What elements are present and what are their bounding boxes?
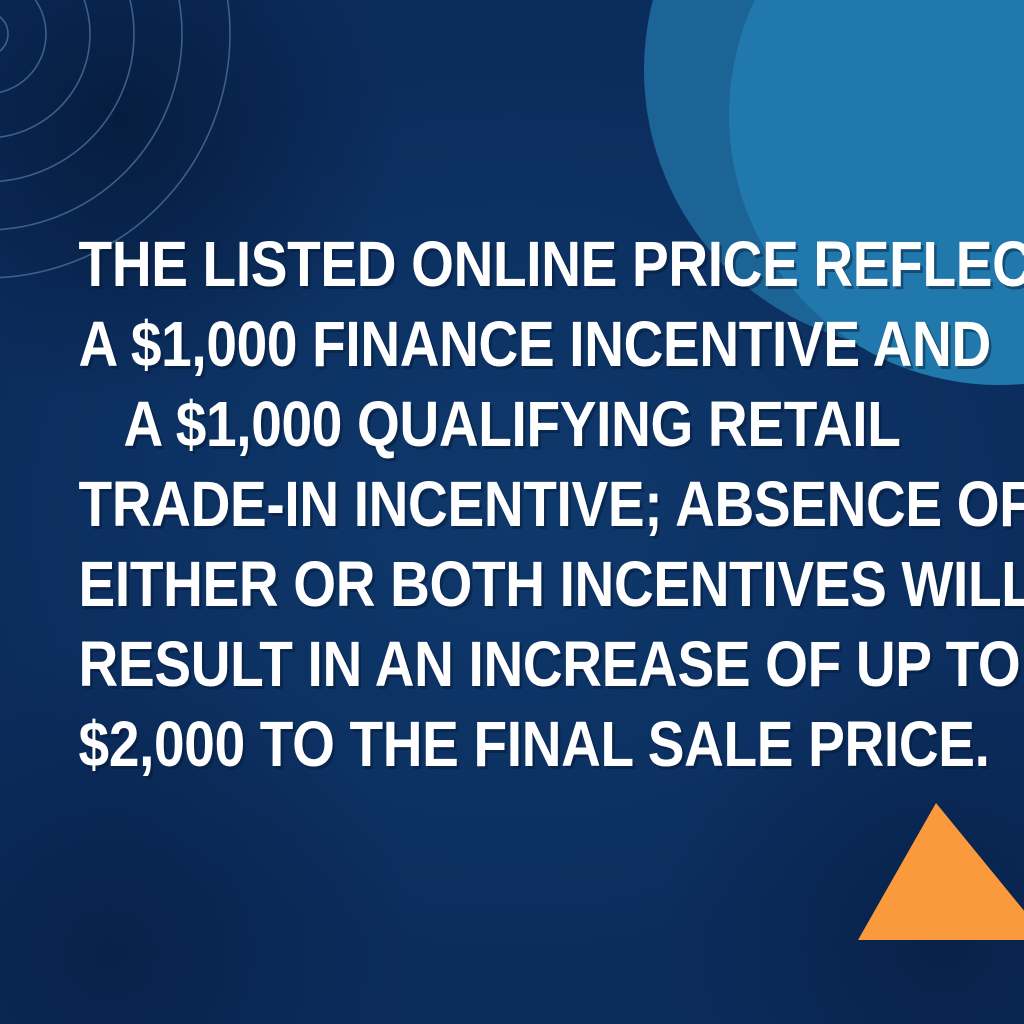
headline-line-3: A $1,000 QUALIFYING RETAIL [79, 384, 946, 464]
promo-banner: THE LISTED ONLINE PRICE REFLECTS A $1,00… [0, 0, 1024, 1024]
headline-line-1: THE LISTED ONLINE PRICE REFLECTS [79, 224, 946, 304]
headline-line-6: RESULT IN AN INCREASE OF UP TO [79, 624, 946, 704]
headline-line-4: TRADE-IN INCENTIVE; ABSENCE OF [79, 464, 946, 544]
headline-line-2: A $1,000 FINANCE INCENTIVE AND [79, 304, 946, 384]
orange-triangle-icon [858, 800, 1024, 940]
headline-line-7: $2,000 TO THE FINAL SALE PRICE. [79, 704, 946, 784]
disclaimer-headline: THE LISTED ONLINE PRICE REFLECTS A $1,00… [72, 224, 953, 784]
headline-line-5: EITHER OR BOTH INCENTIVES WILL [79, 544, 946, 624]
